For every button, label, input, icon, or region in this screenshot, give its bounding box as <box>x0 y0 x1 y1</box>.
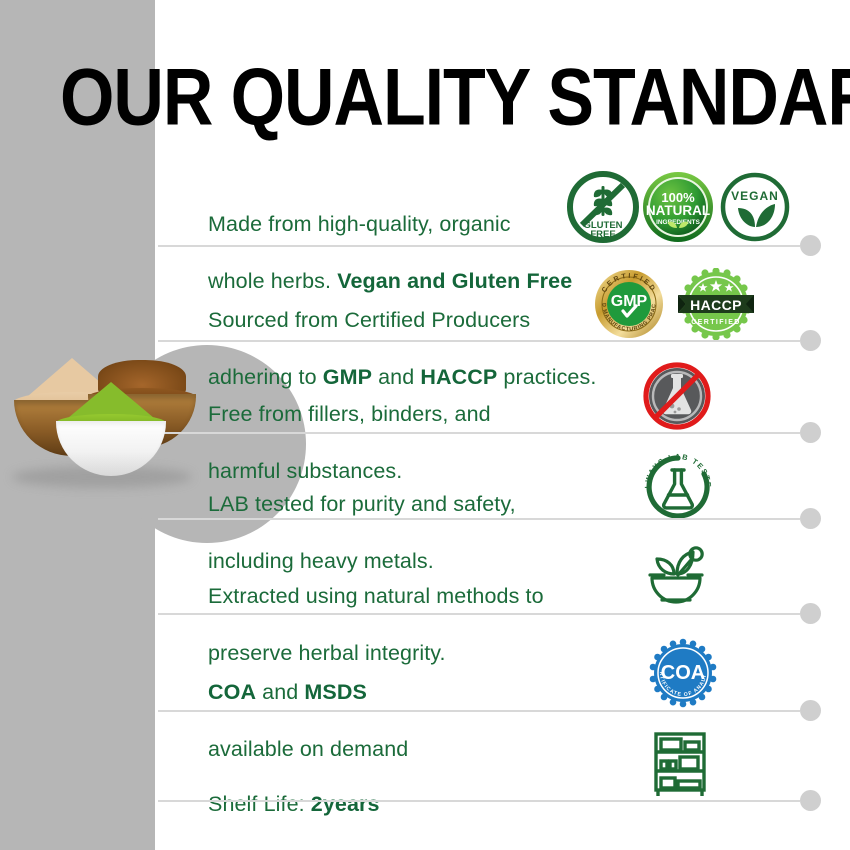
gluten-free-badge-secondary: FREE <box>590 229 615 240</box>
row-dot-1 <box>800 235 821 256</box>
row-dot-3 <box>800 422 821 443</box>
haccp-badge: HACCP CERTIFIED <box>678 268 754 340</box>
mortar-and-pestle-icon <box>636 540 716 614</box>
row-dot-5 <box>800 603 821 624</box>
coa-badge-primary: COA <box>661 662 705 684</box>
gluten-free-badge: GLUTEN FREE <box>566 170 640 244</box>
standard-row-4[interactable]: LAB tested for purity and safety, includ… <box>158 452 850 518</box>
standard-row-4-line1: LAB tested for purity and safety, <box>208 492 516 516</box>
standard-row-2-line1: Sourced from Certified Producers <box>208 308 530 332</box>
vegan-badge-primary: VEGAN <box>731 189 779 203</box>
standard-row-5[interactable]: Extracted using natural methods to prese… <box>158 542 850 613</box>
haccp-badge-secondary: CERTIFIED <box>691 319 741 326</box>
gmp-badge-primary: GMP <box>611 293 648 310</box>
infographic-canvas: OUR QUALITY STANDARDS Made from high-qua… <box>0 0 850 850</box>
standard-row-3-line1: Free from fillers, binders, and <box>208 402 491 426</box>
row-divider-2 <box>158 340 800 342</box>
standard-row-7-text: Shelf Life: 2years <box>208 762 380 819</box>
coa-badge: COA CERTIFICATE OF ANALYSIS <box>648 638 718 708</box>
page-title: OUR QUALITY STANDARDS <box>60 56 850 137</box>
standard-row-7-value: 2years <box>311 792 380 816</box>
gmp-badge: CERTIFIED GOOD MANUFACTURING PRACTICE GM… <box>593 268 665 340</box>
standard-row-1-line1: Made from high-quality, organic <box>208 212 511 236</box>
always-lab-tested-badge: ALWAYS LAB TESTED <box>641 448 715 522</box>
row-divider-7 <box>158 800 800 802</box>
standard-row-7-label: Shelf Life: <box>208 792 311 816</box>
row-divider-1 <box>158 245 800 247</box>
standard-row-1[interactable]: Made from high-quality, organic whole he… <box>158 170 850 245</box>
row-dot-6 <box>800 700 821 721</box>
standard-row-5-line1: Extracted using natural methods to <box>208 584 544 608</box>
natural-badge-secondary: NATURAL <box>646 203 710 218</box>
natural-ingredients-badge: 100% NATURAL INGREDIENTS <box>641 170 715 244</box>
row-divider-4 <box>158 518 800 520</box>
standard-row-7[interactable]: Shelf Life: 2years <box>158 730 850 800</box>
standard-row-2[interactable]: Sourced from Certified Producers adherin… <box>158 268 850 340</box>
no-chemicals-icon <box>641 360 713 432</box>
haccp-badge-primary: HACCP <box>690 297 742 313</box>
shelf-rack-icon <box>644 726 716 802</box>
vegan-badge: VEGAN <box>718 170 792 244</box>
row-divider-3 <box>158 432 800 434</box>
standard-row-6-and: and <box>256 680 304 704</box>
natural-badge-tertiary: INGREDIENTS <box>656 219 700 226</box>
row-dot-4 <box>800 508 821 529</box>
row-divider-6 <box>158 710 800 712</box>
row-dot-2 <box>800 330 821 351</box>
standard-row-6[interactable]: COA and MSDS available on demand <box>158 640 850 710</box>
standard-row-3[interactable]: Free from fillers, binders, and harmful … <box>158 362 850 432</box>
row-divider-5 <box>158 613 800 615</box>
standard-row-6-msds: MSDS <box>304 680 367 704</box>
standard-row-6-coa: COA <box>208 680 256 704</box>
row-dot-7 <box>800 790 821 811</box>
